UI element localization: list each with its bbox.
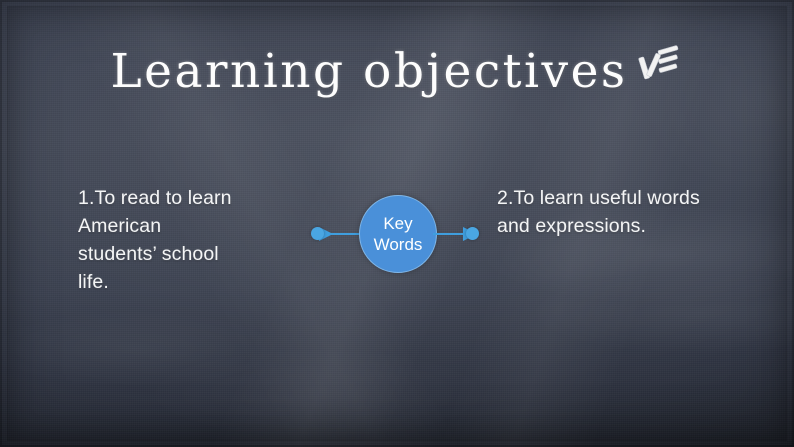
title-row: Learning objectives bbox=[0, 48, 794, 95]
connector-dot-right bbox=[466, 227, 479, 240]
objective-1-text: 1.To read to learn American students’ sc… bbox=[78, 184, 293, 296]
key-words-node[interactable]: Key Words bbox=[359, 195, 437, 273]
objective-2-text: 2.To learn useful words and expressions. bbox=[497, 184, 762, 240]
key-words-label-line1: Key bbox=[383, 213, 412, 234]
connector-line-right bbox=[433, 227, 489, 241]
key-words-label-line2: Words bbox=[374, 234, 423, 255]
page-title: Learning objectives bbox=[110, 48, 627, 95]
slide-canvas: Learning objectives 1.To read to learn A… bbox=[0, 0, 794, 447]
connector-dot-left bbox=[311, 227, 324, 240]
key-words-diagram: 1.To read to learn American students’ sc… bbox=[0, 176, 794, 316]
chalk-sticks-icon bbox=[638, 41, 684, 90]
